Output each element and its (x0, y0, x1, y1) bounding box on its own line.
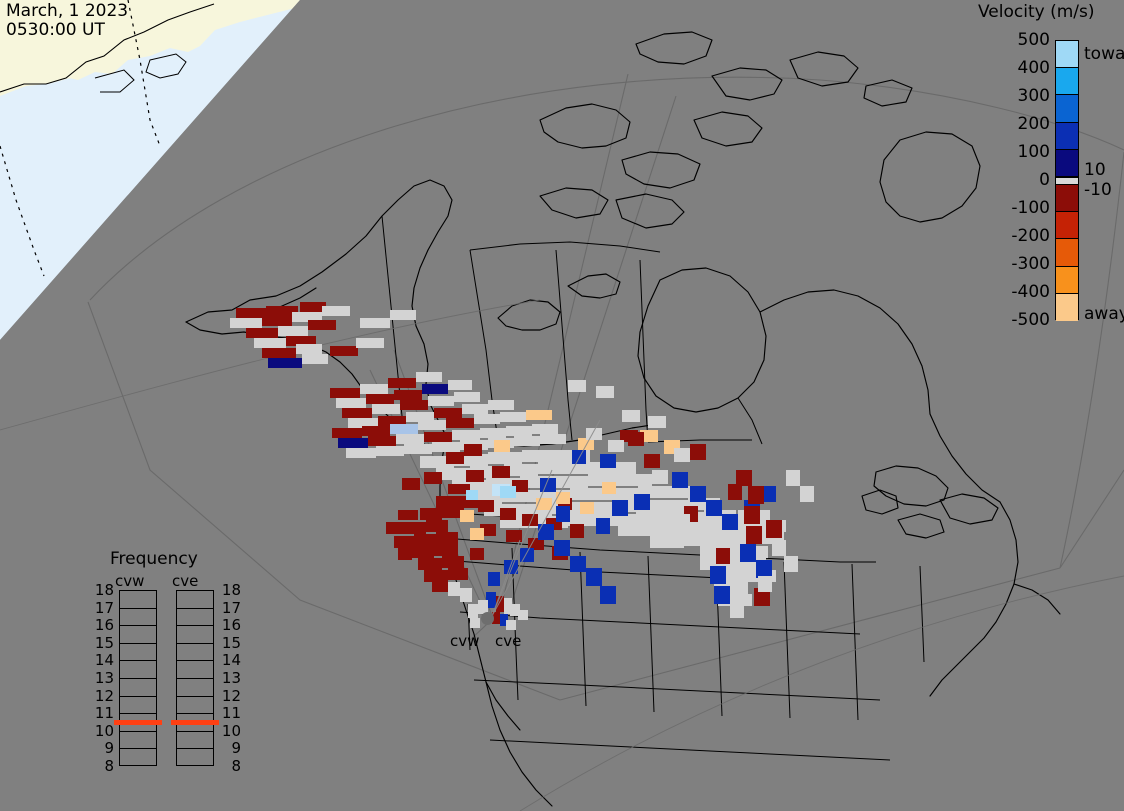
velocity-colorbar-title: Velocity (m/s) (978, 2, 1095, 22)
velocity-band-9 (1056, 294, 1078, 321)
frequency-segment (120, 609, 156, 627)
velocity-band-0 (1056, 41, 1078, 68)
frequency-tick-left-11: 11 (92, 704, 114, 722)
velocity-tick-300: 300 (992, 86, 1050, 106)
frequency-segment (177, 626, 213, 644)
away-label: away (1084, 304, 1124, 324)
frequency-tick-right-17: 17 (219, 599, 241, 617)
frequency-tick-left-12: 12 (92, 687, 114, 705)
frequency-bar-cve (176, 590, 214, 766)
frequency-segment (120, 732, 156, 750)
night-map (0, 0, 1124, 811)
frequency-tick-right-15: 15 (219, 634, 241, 652)
velocity-tick-400: 400 (992, 58, 1050, 78)
frequency-segment (120, 697, 156, 715)
frequency-tick-left-14: 14 (92, 651, 114, 669)
frequency-tick-right-12: 12 (219, 687, 241, 705)
velocity-band-3 (1056, 123, 1078, 150)
frequency-tick-left-18: 18 (92, 581, 114, 599)
velocity-tick--300: -300 (992, 254, 1050, 274)
velocity-band-4 (1056, 150, 1078, 177)
frequency-segment (120, 679, 156, 697)
velocity-band-8 (1056, 267, 1078, 294)
frequency-bar-cvw (119, 590, 157, 766)
velocity-band-5 (1056, 185, 1078, 212)
toward-label: toward (1084, 44, 1124, 64)
velocity-band-6 (1056, 212, 1078, 239)
frequency-column-label-cvw: cvw (115, 572, 144, 590)
frequency-segment (177, 591, 213, 609)
inner-low-label: -10 (1084, 180, 1112, 200)
frequency-tick-left-16: 16 (92, 616, 114, 634)
radar-map-figure: March, 1 20230530:00 UT Velocity (m/s) 5… (0, 0, 1124, 811)
frequency-segment (120, 591, 156, 609)
velocity-band-2 (1056, 95, 1078, 122)
radar-site-label-cvw: cvw (450, 632, 479, 650)
frequency-tick-right-18: 18 (219, 581, 241, 599)
frequency-tick-right-14: 14 (219, 651, 241, 669)
timestamp: March, 1 20230530:00 UT (6, 2, 128, 40)
velocity-tick-500: 500 (992, 30, 1050, 50)
frequency-tick-right-10: 10 (219, 722, 241, 740)
radar-site-marker (481, 612, 494, 625)
frequency-segment (177, 697, 213, 715)
frequency-segment (177, 732, 213, 750)
velocity-zero-band (1056, 177, 1078, 185)
frequency-tick-right-11: 11 (219, 704, 241, 722)
frequency-tick-left-9: 9 (92, 739, 114, 757)
velocity-tick-0: 0 (992, 170, 1050, 190)
velocity-band-7 (1056, 239, 1078, 266)
frequency-marker-cve (171, 720, 219, 725)
frequency-tick-left-17: 17 (92, 599, 114, 617)
frequency-segment (120, 626, 156, 644)
frequency-segment (177, 749, 213, 767)
frequency-segment (120, 644, 156, 662)
frequency-tick-left-8: 8 (92, 757, 114, 775)
velocity-tick--200: -200 (992, 226, 1050, 246)
velocity-band-1 (1056, 68, 1078, 95)
frequency-segment (120, 749, 156, 767)
inner-high-label: 10 (1084, 160, 1106, 180)
frequency-tick-right-16: 16 (219, 616, 241, 634)
velocity-tick-200: 200 (992, 114, 1050, 134)
frequency-segment (177, 644, 213, 662)
velocity-colorbar (1055, 40, 1079, 320)
frequency-segment (120, 661, 156, 679)
velocity-tick--500: -500 (992, 310, 1050, 330)
velocity-tick-100: 100 (992, 142, 1050, 162)
radar-site-label-cve: cve (495, 632, 521, 650)
frequency-tick-left-15: 15 (92, 634, 114, 652)
frequency-marker-cvw (114, 720, 162, 725)
frequency-tick-left-13: 13 (92, 669, 114, 687)
timestamp-time: 0530:00 UT (6, 20, 105, 40)
frequency-tick-right-13: 13 (219, 669, 241, 687)
frequency-column-label-cve: cve (172, 572, 198, 590)
velocity-tick--400: -400 (992, 282, 1050, 302)
frequency-tick-right-9: 9 (219, 739, 241, 757)
frequency-segment (177, 609, 213, 627)
frequency-segment (177, 661, 213, 679)
frequency-tick-left-10: 10 (92, 722, 114, 740)
frequency-segment (177, 679, 213, 697)
timestamp-date: March, 1 2023 (6, 1, 128, 21)
frequency-legend-title: Frequency (110, 549, 198, 569)
velocity-tick--100: -100 (992, 198, 1050, 218)
frequency-tick-right-8: 8 (219, 757, 241, 775)
